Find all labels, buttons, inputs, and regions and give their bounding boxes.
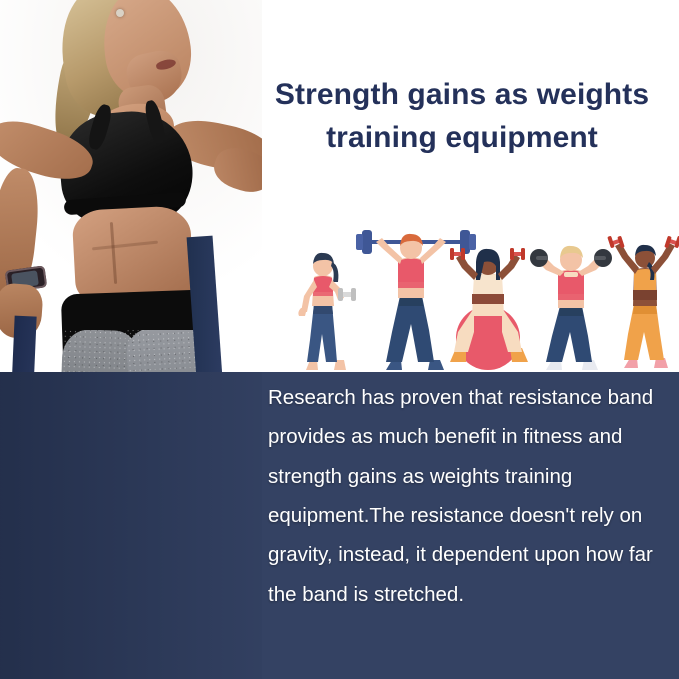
earring <box>116 9 124 17</box>
navy-band-left-shade <box>0 372 262 679</box>
dumbbell-icon <box>338 288 356 301</box>
body-paragraph: Research has proven that resistance band… <box>268 378 672 614</box>
dumbbell-left-icon <box>530 249 548 267</box>
figure-exercise-ball-woman <box>440 236 536 372</box>
figure-arms-raised-woman <box>602 232 679 372</box>
figure-dumbbell-curl-woman <box>284 242 362 372</box>
exercise-illustration-row <box>276 216 679 372</box>
product-infographic: Strength gains as weights training equip… <box>0 0 679 679</box>
page-title: Strength gains as weights training equip… <box>256 74 668 159</box>
